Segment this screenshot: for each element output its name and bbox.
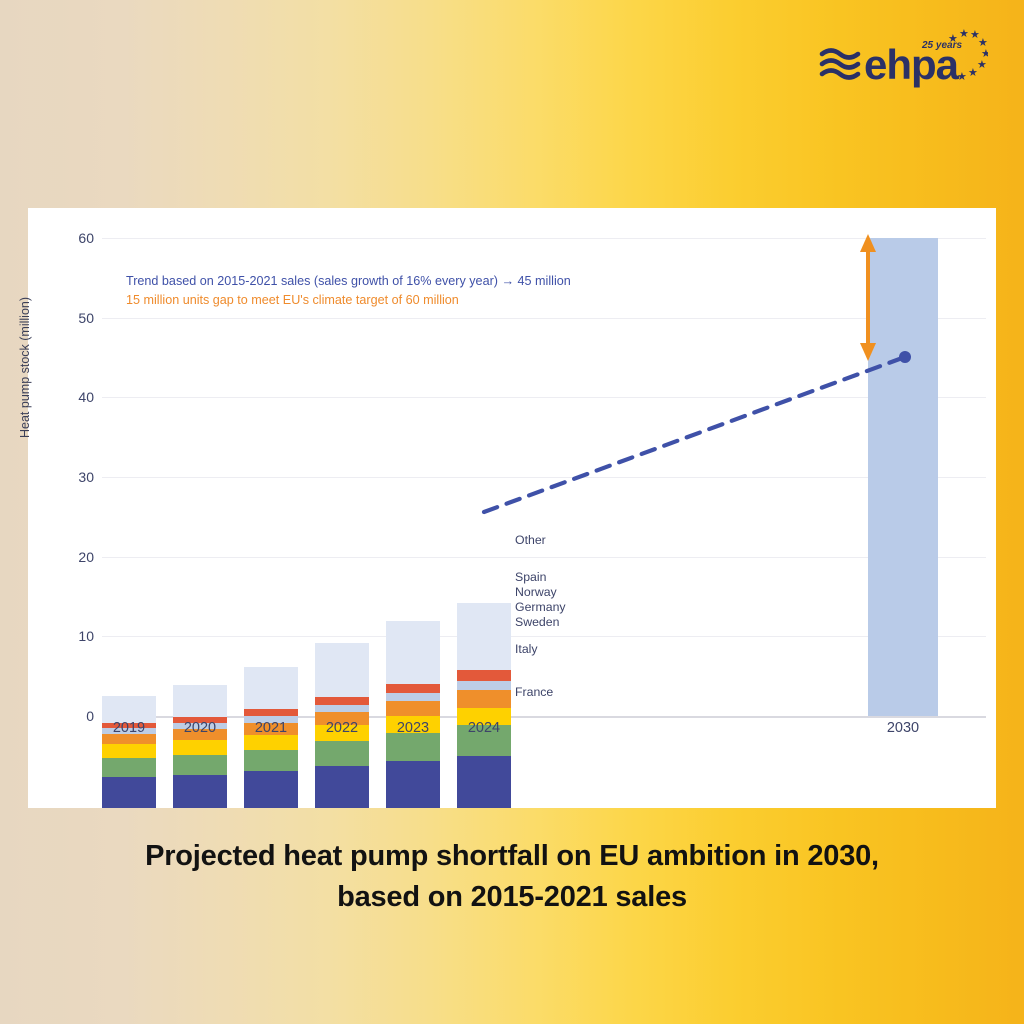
segment-other-2020 bbox=[173, 685, 227, 718]
series-label-other: Other bbox=[515, 533, 546, 547]
segment-germany-2023 bbox=[386, 701, 440, 716]
ehpa-logo: ehpa 25 years ★ ★ ★ ★ ★ ★ ★ ★ bbox=[818, 24, 988, 90]
segment-spain-2021 bbox=[244, 709, 298, 715]
trend-dashed-line bbox=[484, 357, 905, 512]
segment-germany-2024 bbox=[457, 690, 511, 708]
series-label-germany: Germany bbox=[515, 600, 566, 614]
segment-france-2023 bbox=[386, 761, 440, 808]
y-axis-title: Heat pump stock (million) bbox=[18, 238, 32, 438]
segment-norway-2024 bbox=[457, 681, 511, 690]
segment-norway-2023 bbox=[386, 693, 440, 701]
series-label-norway: Norway bbox=[515, 585, 557, 599]
gridline-60 bbox=[102, 238, 986, 239]
svg-text:★: ★ bbox=[959, 28, 969, 40]
bar-2030-target[interactable] bbox=[868, 238, 938, 716]
svg-text:★: ★ bbox=[977, 59, 987, 71]
y-tick-20: 20 bbox=[58, 549, 94, 565]
segment-other-2021 bbox=[244, 667, 298, 709]
x-tick-2024: 2024 bbox=[439, 720, 529, 736]
series-label-france: France bbox=[515, 685, 553, 699]
segment-spain-2023 bbox=[386, 684, 440, 694]
plot-area: Heat pump stock (million) 60 50 40 30 20… bbox=[28, 208, 996, 808]
segment-france-2022 bbox=[315, 766, 369, 808]
y-tick-10: 10 bbox=[58, 628, 94, 644]
svg-text:★: ★ bbox=[957, 71, 967, 83]
gridline-50 bbox=[102, 318, 986, 319]
segment-france-2024 bbox=[457, 756, 511, 808]
segment-spain-2024 bbox=[457, 670, 511, 681]
segment-italy-2023 bbox=[386, 733, 440, 761]
page-title-line2: based on 2015-2021 sales bbox=[0, 877, 1024, 918]
segment-italy-2020 bbox=[173, 755, 227, 775]
trend-annotation: Trend based on 2015-2021 sales (sales gr… bbox=[126, 274, 571, 288]
gridline-0 bbox=[102, 716, 986, 718]
segment-sweden-2020 bbox=[173, 740, 227, 754]
y-tick-40: 40 bbox=[58, 389, 94, 405]
segment-italy-2022 bbox=[315, 741, 369, 766]
series-label-spain: Spain bbox=[515, 570, 546, 584]
x-tick-2030: 2030 bbox=[858, 720, 948, 736]
segment-spain-2022 bbox=[315, 697, 369, 705]
ehpa-wave-logo: ehpa 25 years ★ ★ ★ ★ ★ ★ ★ ★ bbox=[818, 24, 988, 90]
gridline-10 bbox=[102, 636, 986, 637]
segment-other-2023 bbox=[386, 621, 440, 684]
segment-other-2019 bbox=[102, 696, 156, 722]
svg-text:★: ★ bbox=[948, 33, 958, 45]
segment-sweden-2019 bbox=[102, 744, 156, 758]
segment-other-2022 bbox=[315, 643, 369, 696]
page-title-line1: Projected heat pump shortfall on EU ambi… bbox=[0, 836, 1024, 877]
y-tick-50: 50 bbox=[58, 310, 94, 326]
y-tick-30: 30 bbox=[58, 469, 94, 485]
segment-france-2021 bbox=[244, 771, 298, 808]
segment-norway-2022 bbox=[315, 705, 369, 712]
segment-italy-2021 bbox=[244, 750, 298, 772]
page-title: Projected heat pump shortfall on EU ambi… bbox=[0, 836, 1024, 918]
gridline-30 bbox=[102, 477, 986, 478]
segment-other-2024 bbox=[457, 603, 511, 671]
series-label-sweden: Sweden bbox=[515, 615, 559, 629]
segment-italy-2019 bbox=[102, 758, 156, 777]
gridline-20 bbox=[102, 557, 986, 558]
segment-france-2020 bbox=[173, 775, 227, 809]
segment-sweden-2021 bbox=[244, 735, 298, 750]
gridline-40 bbox=[102, 397, 986, 398]
chart-panel: Heat pump stock (million) 60 50 40 30 20… bbox=[28, 208, 996, 808]
series-label-italy: Italy bbox=[515, 642, 538, 656]
svg-text:★: ★ bbox=[968, 67, 978, 79]
segment-france-2019 bbox=[102, 777, 156, 808]
y-tick-60: 60 bbox=[58, 230, 94, 246]
